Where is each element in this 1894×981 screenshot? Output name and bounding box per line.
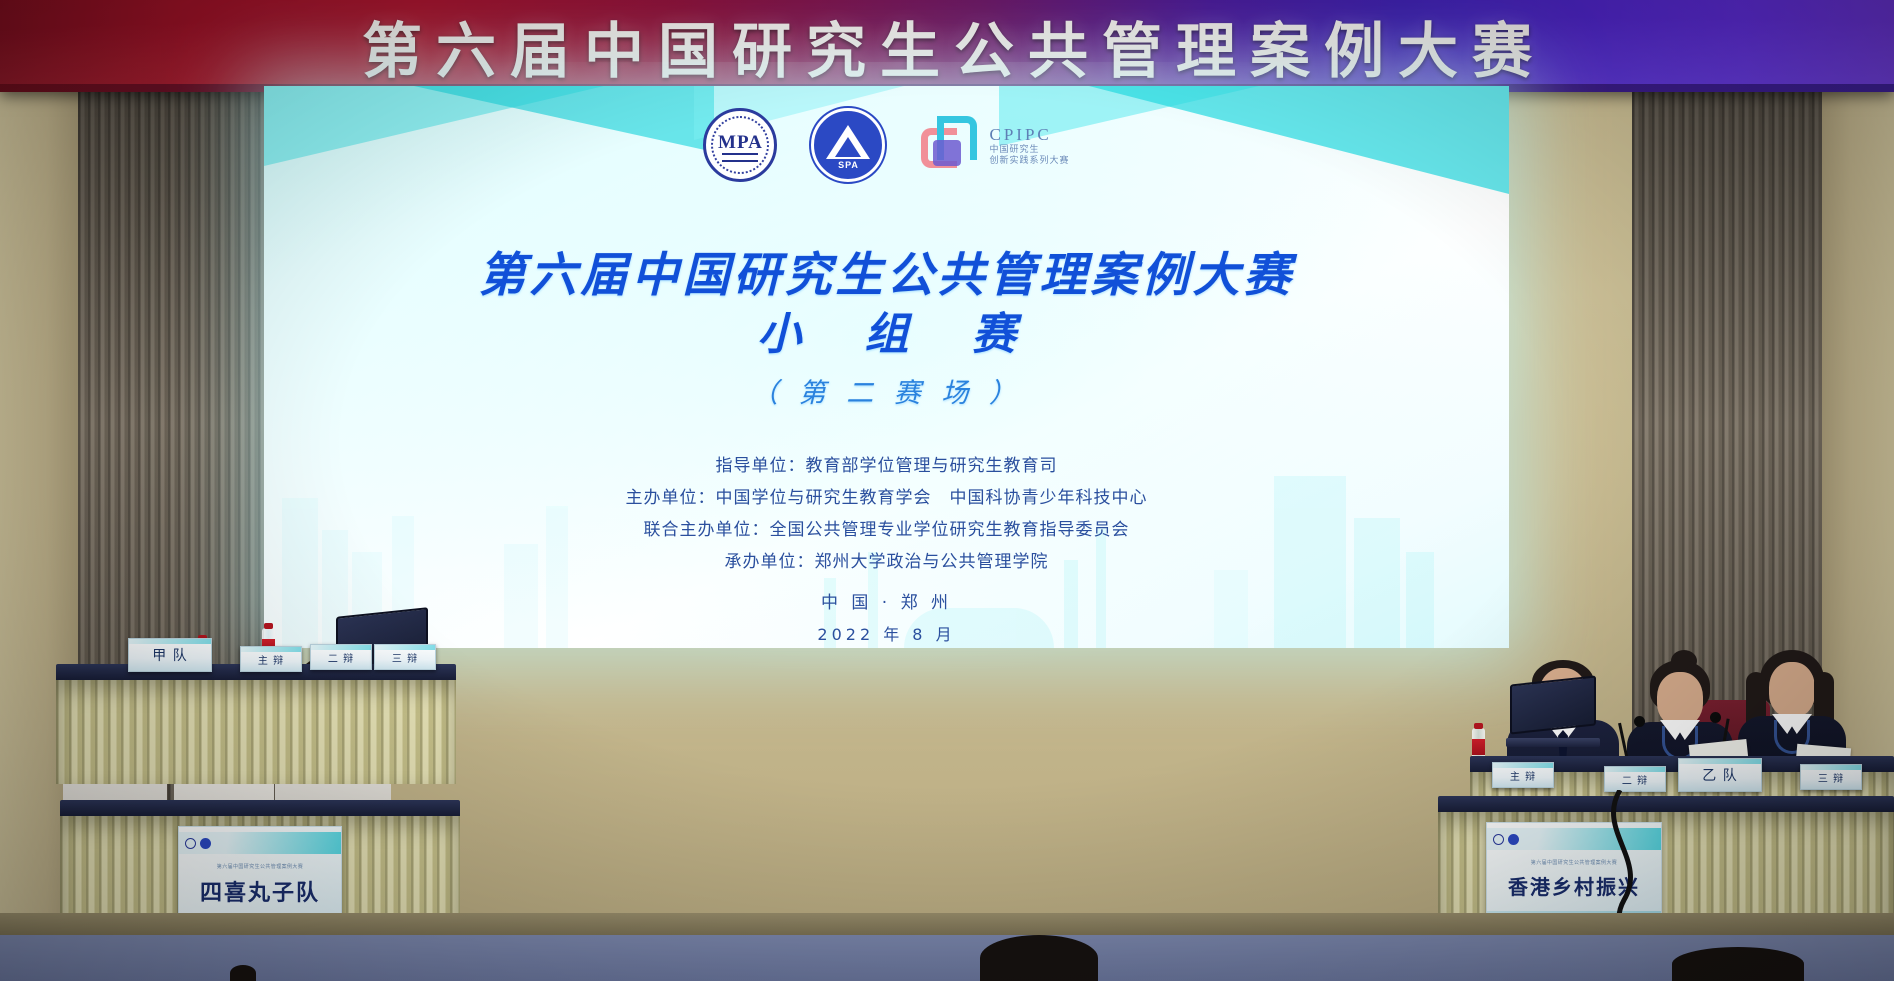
head xyxy=(1657,672,1703,726)
projection-screen: MPA SPA CPIPC 中国研究生 创新实践系列大赛 第六届中国研究生公共管… xyxy=(264,86,1509,648)
left-team-table xyxy=(56,664,456,784)
head xyxy=(1769,662,1815,717)
sponsor-logos: MPA SPA CPIPC 中国研究生 创新实践系列大赛 xyxy=(264,108,1509,182)
event-banner-text: 第六届中国研究生公共管理案例大赛 xyxy=(0,0,1894,92)
cpipc-label: CPIPC xyxy=(989,125,1069,145)
name-card-right-4: 三 辩 xyxy=(1800,764,1862,790)
name-card-left-3: 二 辩 xyxy=(310,644,372,670)
mpa-seal-icon-small xyxy=(185,838,196,849)
org-line-guidance: 指导单位：教育部学位管理与研究生教育司 xyxy=(264,450,1509,482)
cpipc-line3: 创新实践系列大赛 xyxy=(989,155,1069,165)
org-line-cohost: 联合主办单位：全国公共管理专业学位研究生教育指导委员会 xyxy=(264,514,1509,546)
name-card-left-team: 甲 队 xyxy=(128,638,212,672)
spa-seal-icon-small xyxy=(200,838,211,849)
cpipc-mark-icon xyxy=(919,114,981,176)
slide-place: 中 国 · 郑 州 xyxy=(264,587,1509,619)
slide-title-main: 第六届中国研究生公共管理案例大赛 xyxy=(264,236,1509,305)
slide-title-venue: （ 第 二 赛 场 ） xyxy=(264,371,1509,410)
laptop-right xyxy=(1510,680,1610,740)
placard-header xyxy=(179,832,341,854)
floor-strip xyxy=(0,913,1894,935)
placard-subtitle: 第六届中国研究生公共管理案例大赛 xyxy=(217,863,303,870)
mpa-seal-icon-small xyxy=(1493,834,1504,845)
mpa-seal-icon: MPA xyxy=(703,108,777,182)
placard-team-name: 四喜丸子队 xyxy=(200,875,320,907)
org-line-organizer: 承办单位：郑州大学政治与公共管理学院 xyxy=(264,546,1509,578)
audience-head-2 xyxy=(1672,947,1804,981)
cpipc-line2: 中国研究生 xyxy=(989,144,1069,154)
slide-organizers: 指导单位：教育部学位管理与研究生教育司 主办单位：中国学位与研究生教育学会 中国… xyxy=(264,450,1509,651)
audience-head-3 xyxy=(230,965,256,981)
screenshot-root: 第六届中国研究生公共管理案例大赛 xyxy=(0,0,1894,981)
slide-title-subtitle: 小 组 赛 xyxy=(264,298,1509,362)
name-card-left-2: 主 辩 xyxy=(240,646,302,672)
foreground-band xyxy=(0,935,1894,981)
event-banner: 第六届中国研究生公共管理案例大赛 xyxy=(0,0,1894,92)
name-card-left-4: 三 辩 xyxy=(374,644,436,670)
name-card-right-team: 乙 队 xyxy=(1678,758,1762,792)
mpa-seal-label: MPA xyxy=(718,133,763,152)
name-card-right-2: 二 辩 xyxy=(1604,766,1666,792)
table-skirt xyxy=(56,680,456,784)
slide-date: 2022 年 8 月 xyxy=(264,619,1509,651)
name-card-right-1: 主 辩 xyxy=(1492,762,1554,788)
spa-seal-label: SPA xyxy=(814,160,882,170)
audience-head-1 xyxy=(980,935,1098,981)
org-line-host: 主办单位：中国学位与研究生教育学会 中国科协青少年科技中心 xyxy=(264,482,1509,514)
cpipc-logo: CPIPC 中国研究生 创新实践系列大赛 xyxy=(919,114,1069,176)
spa-seal-icon: SPA xyxy=(811,108,885,182)
spa-seal-icon-small xyxy=(1508,834,1519,845)
